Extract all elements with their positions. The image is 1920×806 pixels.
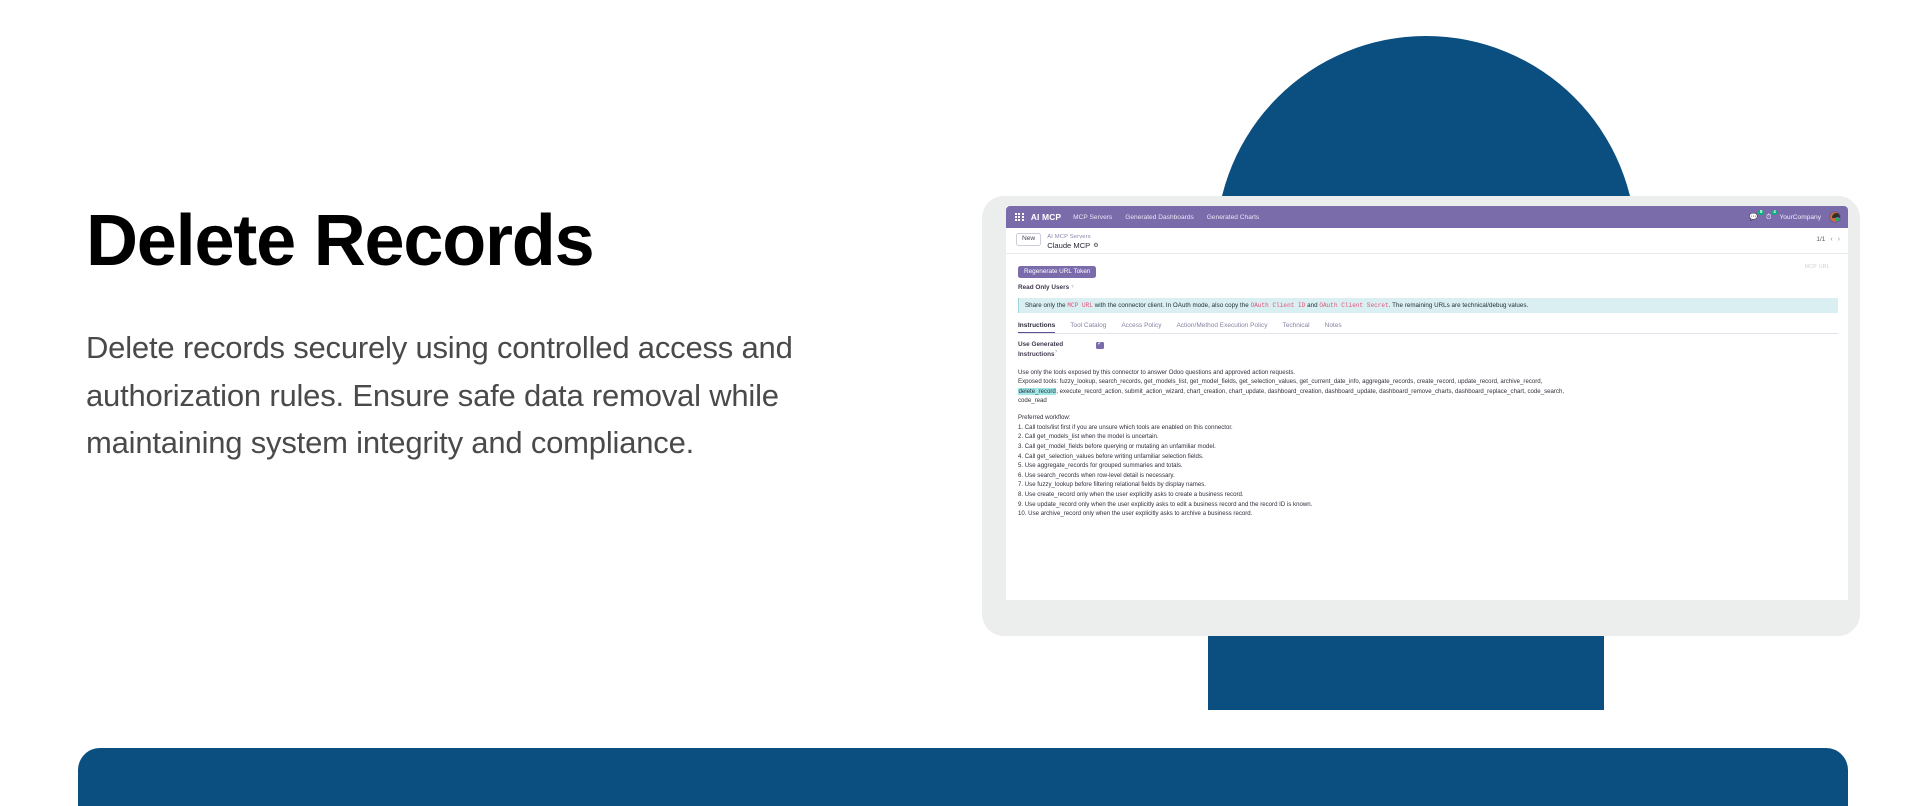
banner-code-client-id: OAuth Client ID — [1251, 302, 1306, 309]
nav-item-generated-charts[interactable]: Generated Charts — [1207, 214, 1259, 221]
workflow-step: 4. Call get_selection_values before writ… — [1018, 452, 1838, 462]
page-title: Delete Records — [86, 205, 876, 277]
activities-badge: 4 — [1772, 210, 1778, 215]
gear-icon[interactable]: ⚙ — [1093, 242, 1098, 249]
instructions-line-4: code_read — [1018, 396, 1838, 406]
messages-badge: 8 — [1758, 210, 1764, 215]
tab-tool-catalog[interactable]: Tool Catalog — [1070, 322, 1106, 329]
banner-text-1: Share only the — [1025, 302, 1067, 309]
regenerate-url-token-button[interactable]: Regenerate URL Token — [1018, 266, 1096, 278]
mcp-url-ghost-label: MCP URL — [1805, 264, 1830, 270]
breadcrumb-current: Claude MCP ⚙ — [1047, 241, 1098, 250]
notebook-tabs: Instructions Tool Catalog Access Policy … — [1018, 322, 1838, 334]
company-name[interactable]: YourCompany — [1779, 214, 1821, 221]
use-generated-instructions-label: Use Generated Instructions? — [1018, 341, 1076, 360]
banner-text-3: and — [1305, 302, 1319, 309]
slide-canvas: Delete Records Delete records securely u… — [0, 0, 1920, 806]
instructions-line-3: delete_record, execute_record_action, su… — [1018, 387, 1838, 397]
use-generated-instructions-checkbox[interactable] — [1096, 342, 1104, 350]
page-subtitle: Delete records securely using controlled… — [86, 324, 856, 467]
pager-count: 1/1 — [1816, 236, 1825, 243]
app-brand[interactable]: AI MCP — [1031, 212, 1061, 222]
help-marker[interactable]: ? — [1071, 284, 1074, 289]
nav-item-mcp-servers[interactable]: MCP Servers — [1073, 214, 1112, 221]
nav-right-cluster: 💬 8 ⏱ 4 YourCompany — [1749, 211, 1841, 223]
monitor-stand — [1208, 630, 1604, 710]
app-screenshot: AI MCP MCP Servers Generated Dashboards … — [1006, 206, 1848, 600]
chevron-right-icon[interactable]: › — [1838, 236, 1840, 243]
decor-bottom-bar — [78, 748, 1848, 806]
info-banner: Share only the MCP URL with the connecto… — [1018, 298, 1838, 313]
record-pager: 1/1 ‹ › — [1816, 233, 1840, 243]
breadcrumb: AI MCP Servers Claude MCP ⚙ — [1047, 233, 1098, 250]
workflow-step: 1. Call tools/list first if you are unsu… — [1018, 423, 1838, 433]
help-marker-2[interactable]: ? — [1055, 349, 1058, 354]
banner-code-client-secret: OAuth Client Secret — [1319, 302, 1388, 309]
instructions-text: Use only the tools exposed by this conne… — [1018, 368, 1838, 519]
control-panel: New AI MCP Servers Claude MCP ⚙ 1/1 ‹ › — [1006, 228, 1848, 254]
tab-technical[interactable]: Technical — [1283, 322, 1310, 329]
chat-bubble-icon[interactable]: 💬 8 — [1749, 214, 1758, 221]
workflow-step: 2. Call get_models_list when the model i… — [1018, 432, 1838, 442]
workflow-step: 9. Use update_record only when the user … — [1018, 500, 1838, 510]
tab-notes[interactable]: Notes — [1325, 322, 1342, 329]
instructions-line-2: Exposed tools: fuzzy_lookup, search_reco… — [1018, 377, 1838, 387]
breadcrumb-parent[interactable]: AI MCP Servers — [1047, 234, 1098, 240]
nav-item-generated-dashboards[interactable]: Generated Dashboards — [1125, 214, 1194, 221]
workflow-step: 8. Use create_record only when the user … — [1018, 490, 1838, 500]
workflow-step: 10. Use archive_record only when the use… — [1018, 509, 1838, 519]
clock-activity-icon[interactable]: ⏱ 4 — [1766, 214, 1771, 221]
tab-instructions[interactable]: Instructions — [1018, 322, 1055, 334]
avatar[interactable] — [1829, 211, 1841, 223]
tab-action-method-execution-policy[interactable]: Action/Method Execution Policy — [1176, 322, 1267, 329]
workflow-step: 3. Call get_model_fields before querying… — [1018, 442, 1838, 452]
tab-access-policy[interactable]: Access Policy — [1121, 322, 1161, 329]
read-only-users-label: Read Only Users ? — [1018, 284, 1074, 291]
banner-text-4: . The remaining URLs are technical/debug… — [1389, 302, 1529, 309]
read-only-users-field: Read Only Users ? — [1018, 284, 1838, 291]
record-sheet: MCP URL Regenerate URL Token Read Only U… — [1006, 254, 1848, 519]
chevron-left-icon[interactable]: ‹ — [1830, 236, 1832, 243]
banner-text-2: with the connector client. In OAuth mode… — [1093, 302, 1251, 309]
app-navbar: AI MCP MCP Servers Generated Dashboards … — [1006, 206, 1848, 228]
workflow-step: 5. Use aggregate_records for grouped sum… — [1018, 461, 1838, 471]
slide-copy: Delete Records Delete records securely u… — [86, 205, 876, 467]
highlighted-delete-record: delete_record — [1018, 388, 1056, 395]
workflow-step: 7. Use fuzzy_lookup before filtering rel… — [1018, 480, 1838, 490]
banner-code-mcp-url: MCP URL — [1067, 302, 1093, 309]
workflow-step: 6. Use search_records when row-level det… — [1018, 471, 1838, 481]
instructions-line-1: Use only the tools exposed by this conne… — [1018, 368, 1838, 378]
new-button[interactable]: New — [1016, 233, 1041, 246]
use-generated-instructions-field: Use Generated Instructions? — [1018, 341, 1838, 360]
instructions-gap — [1018, 406, 1838, 413]
grid-apps-icon[interactable] — [1015, 213, 1024, 222]
record-name: Claude MCP — [1047, 241, 1090, 250]
monitor-frame: AI MCP MCP Servers Generated Dashboards … — [982, 196, 1860, 636]
instructions-line-3-rest: , execute_record_action, submit_action_w… — [1056, 388, 1564, 395]
workflow-title: Preferred workflow: — [1018, 413, 1838, 423]
